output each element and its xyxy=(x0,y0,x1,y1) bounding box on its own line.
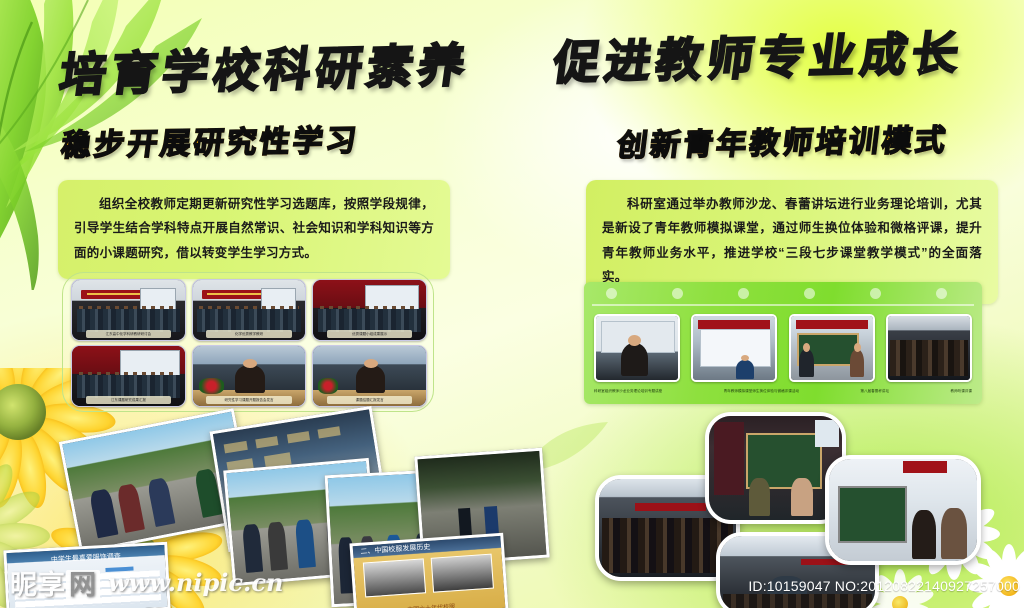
filmstrip-caption-2: 青年教师模拟课堂师生换位体验与微格评课活动 xyxy=(724,386,799,396)
main-title-left: 培育学校科研素养 xyxy=(56,38,473,102)
grid-photo-caption: 优秀课题小组成果展示 xyxy=(327,330,413,338)
filmstrip-divider xyxy=(592,304,974,306)
grid-photo-2[interactable]: 化学优秀教学教研 xyxy=(192,279,307,341)
grid-photo-3[interactable]: 优秀课题小组成果展示 xyxy=(312,279,427,341)
filmstrip-caption-4: 教师听课评课 xyxy=(950,386,972,396)
grid-photo-4[interactable]: 江东课题研究成果汇报 xyxy=(71,345,186,407)
grid-photo-caption: 江东课题研究成果汇报 xyxy=(86,396,172,404)
left-photo-grid: 江东高中化学科研教研研讨会 化学优秀教学教研 优秀课题小组成果展示 江东课题研究… xyxy=(71,279,427,407)
grid-photo-6[interactable]: 课题结题汇报发言 xyxy=(312,345,427,407)
cluster-photo-micro-evaluation[interactable] xyxy=(825,455,981,565)
body-text-right: 科研室通过举办教师沙龙、春蕾讲坛进行业务理论培训，尤其是新设了青年教师模拟课堂，… xyxy=(602,192,982,290)
grid-photo-5[interactable]: 研究性学习课题开题报告会发言 xyxy=(192,345,307,407)
filmstrip-captions: 科研室组织教师沙龙业务理论培训专题讲座 青年教师模拟课堂师生换位体验与微格评课活… xyxy=(594,386,972,396)
text-panel-left: 组织全校教师定期更新研究性学习选题库，按照学段规律，引导学生结合学科特点开展自然… xyxy=(58,180,450,279)
grid-photo-1[interactable]: 江东高中化学科研教研研讨会 xyxy=(71,279,186,341)
history-board-caption: 中国六十年代校服 xyxy=(357,597,505,608)
filmstrip-photo-1[interactable] xyxy=(594,314,680,382)
subtitle-right: 创新青年教师培训模式 xyxy=(615,115,951,165)
filmstrip-photo-2[interactable] xyxy=(691,314,777,382)
survey-form-title: 中学生最喜爱服饰调查 xyxy=(19,549,152,566)
left-photo-grid-frame: 江东高中化学科研教研研讨会 化学优秀教学教研 优秀课题小组成果展示 江东课题研究… xyxy=(62,272,434,412)
collage-photo-survey-form[interactable]: 中学生最喜爱服饰调查 xyxy=(3,542,170,608)
filmstrip-sprocket-holes xyxy=(584,288,982,300)
main-title-right: 促进教师专业成长 xyxy=(550,26,967,90)
poster-canvas: 培育学校科研素养 促进教师专业成长 稳步开展研究性学习 创新青年教师培训模式 组… xyxy=(0,0,1024,608)
title-spacer xyxy=(488,79,530,80)
body-text-left: 组织全校教师定期更新研究性学习选题库，按照学段规律，引导学生结合学科特点开展自然… xyxy=(74,192,434,265)
filmstrip-panel: 科研室组织教师沙龙业务理论培训专题讲座 青年教师模拟课堂师生换位体验与微格评课活… xyxy=(584,282,982,404)
filmstrip-caption-3: 第八届春蕾杯讲坛 xyxy=(860,386,889,396)
filmstrip-photos xyxy=(594,314,972,382)
filmstrip-caption-1: 科研室组织教师沙龙业务理论培训专题讲座 xyxy=(594,386,662,396)
subtitle-left: 稳步开展研究性学习 xyxy=(59,115,362,164)
collage-photo-history-board[interactable]: 二、中国校服发展历史 中国六十年代校服 xyxy=(349,533,508,608)
poster-main-title: 培育学校科研素养 促进教师专业成长 xyxy=(0,16,1024,107)
grid-photo-caption: 化学优秀教学教研 xyxy=(206,330,292,338)
grid-photo-caption: 研究性学习课题开题报告会发言 xyxy=(206,396,292,404)
grid-photo-caption: 课题结题汇报发言 xyxy=(327,396,413,404)
filmstrip-photo-3[interactable] xyxy=(789,314,875,382)
grid-photo-caption: 江东高中化学科研教研研讨会 xyxy=(86,330,172,338)
filmstrip-photo-4[interactable] xyxy=(886,314,972,382)
